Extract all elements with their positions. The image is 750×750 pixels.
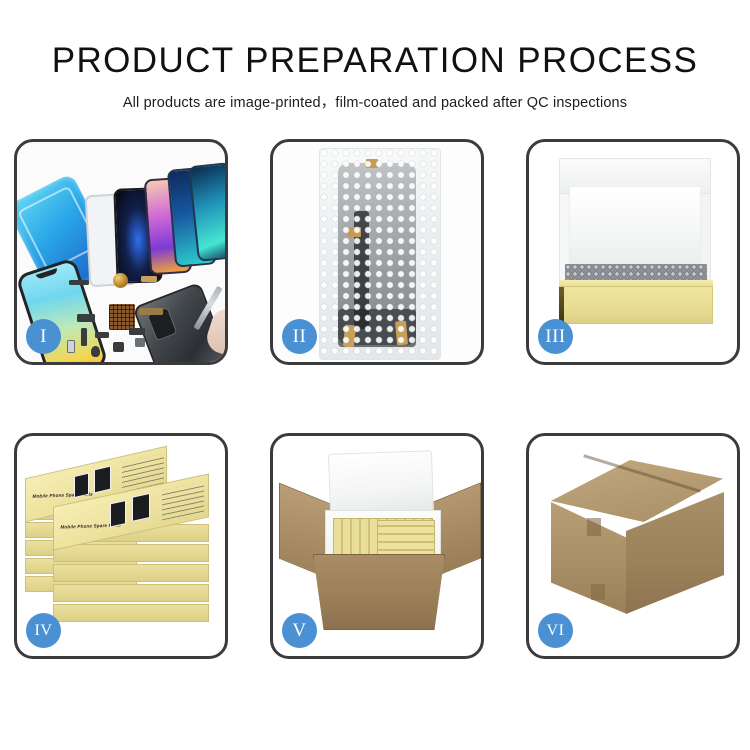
step-badge-3: III [538,319,573,354]
logic-board-chip [109,304,135,330]
step-panel-4: Mobile Phone Spare Parts Mobile Phone Sp… [14,433,228,659]
stacked-box-r5 [53,604,209,622]
spare-part-flex-cable [139,308,163,315]
spare-part-strip-1 [69,280,89,285]
step-panel-5: V [270,433,484,659]
spare-part-strip-3 [81,328,87,346]
vibration-motor-part [113,273,128,288]
lid-window-1b [94,466,111,494]
page-subtitle: All products are image-printed，film-coat… [0,91,750,112]
lid-spec-text-2 [162,481,204,520]
step-badge-5: V [282,613,317,648]
header: PRODUCT PREPARATION PROCESS All products… [0,0,750,112]
page-title: PRODUCT PREPARATION PROCESS [0,40,750,82]
spare-part-connector-1 [141,276,157,282]
yellow-box-front [559,286,713,324]
lid-window-2b [132,493,150,522]
product-preparation-infographic: PRODUCT PREPARATION PROCESS All products… [0,0,750,750]
spare-part-strip-5 [129,328,145,335]
step-panel-1: I [14,139,228,365]
bubble-wrap-pouch [319,148,441,360]
stacked-box-r2 [53,544,209,562]
spare-part-strip-4 [95,332,109,338]
white-foam-sheet [569,186,701,266]
spare-part-strip-2 [77,314,95,322]
step-panel-6: VI [526,433,740,659]
step-badge-4: IV [26,613,61,648]
process-steps-grid: I II [14,139,740,659]
carton-tape-lower [591,584,605,600]
step-panel-2: II [270,139,484,365]
spare-part-camera [113,342,124,352]
bubble-texture [320,149,440,359]
spare-part-speaker [91,346,100,357]
step-panel-3: III [526,139,740,365]
step-badge-1: I [26,319,61,354]
lid-window-1a [74,473,89,498]
stacked-box-r3 [53,564,209,582]
lid-window-2a [110,500,126,527]
step-badge-2: II [282,319,317,354]
spare-part-sim-tray [67,340,75,353]
spare-part-button [135,338,145,347]
styrofoam-lid [328,450,434,516]
carton-tape-upper [587,518,601,536]
step-badge-6: VI [538,613,573,648]
carton-body [313,554,445,630]
stacked-box-r4 [53,584,209,602]
